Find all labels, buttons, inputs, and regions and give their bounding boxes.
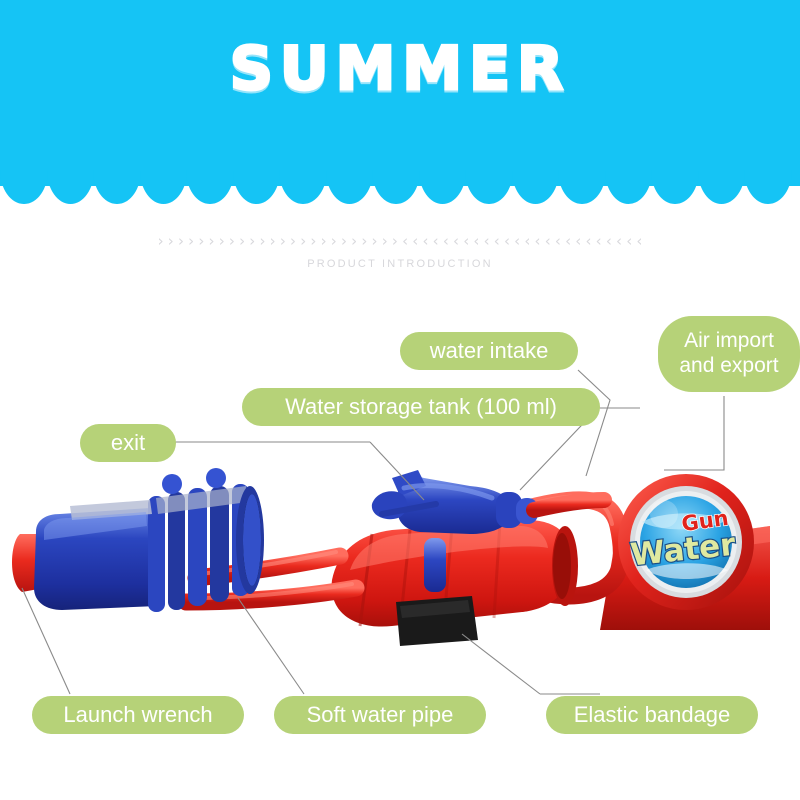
callout-launch-wrench-label: Launch wrench [63,702,212,728]
chevron-left-icon: ‹ [453,234,459,249]
chevron-left-icon: ‹ [422,234,428,249]
chevron-left-icon: ‹ [402,234,408,249]
chevron-left-icon: ‹ [626,234,632,249]
chevron-right-icon: › [168,234,174,249]
callout-water-intake-label: water intake [430,338,549,364]
wave-scallop [605,170,653,204]
summer-banner: SUMMER [0,0,800,186]
chevron-right-icon: › [382,234,388,249]
chevron-right-icon: › [361,234,367,249]
chevron-left-icon: ‹ [524,234,530,249]
infographic-canvas: SUMMER ››››››››››››››››››››››››‹‹‹‹‹‹‹‹‹… [0,0,800,800]
chevron-left-icon: ‹ [433,234,439,249]
chevron-left-icon: ‹ [575,234,581,249]
callout-air-import-line2: and export [679,354,778,379]
wave-scallop [465,170,513,204]
chevron-right-icon: › [351,234,357,249]
wave-scallop [93,170,141,204]
chevron-left-icon: ‹ [514,234,520,249]
callout-exit-label: exit [111,430,145,456]
chevron-right-icon: › [290,234,296,249]
chevron-right-icon: › [198,234,204,249]
wave-scallop [698,170,746,204]
chevron-right-icon: › [259,234,265,249]
wave-scallop [279,170,327,204]
callout-water-intake[interactable]: water intake [400,332,578,370]
product-photo: Gun Water [0,430,800,700]
wave-scallop [372,170,420,204]
chevron-left-icon: ‹ [565,234,571,249]
chevron-left-icon: ‹ [606,234,612,249]
chevron-right-icon: › [188,234,194,249]
wave-scallop [419,170,467,204]
chevron-right-icon: › [209,234,215,249]
chevron-left-icon: ‹ [596,234,602,249]
callout-elastic-bandage-label: Elastic bandage [574,702,731,728]
chevron-right-icon: › [158,234,164,249]
chevron-right-icon: › [229,234,235,249]
wave-scallop [186,170,234,204]
section-subtitle: PRODUCT INTRODUCTION [0,258,800,270]
callout-launch-wrench[interactable]: Launch wrench [32,696,244,734]
chevron-left-icon: ‹ [555,234,561,249]
chevron-right-icon: › [239,234,245,249]
banner-title: SUMMER [0,34,800,104]
chevron-right-icon: › [331,234,337,249]
wave-divider [0,170,800,204]
chevron-left-icon: ‹ [484,234,490,249]
chevron-left-icon: ‹ [494,234,500,249]
elastic-bandage-strap [396,596,478,646]
wave-scallop [47,170,95,204]
callout-elastic-bandage[interactable]: Elastic bandage [546,696,758,734]
callout-air-import-line1: Air import [684,329,774,354]
wave-scallop [744,170,792,204]
callout-soft-water-pipe[interactable]: Soft water pipe [274,696,486,734]
chevron-right-icon: › [341,234,347,249]
chevron-left-icon: ‹ [535,234,541,249]
wave-scallop [233,170,281,204]
chevron-left-icon: ‹ [463,234,469,249]
wave-scallop [558,170,606,204]
wave-scallop [512,170,560,204]
chevron-right-icon: › [392,234,398,249]
callout-soft-water-pipe-label: Soft water pipe [307,702,454,728]
chevron-right-icon: › [270,234,276,249]
chevron-right-icon: › [280,234,286,249]
chevron-right-icon: › [310,234,316,249]
chevron-left-icon: ‹ [504,234,510,249]
callout-air-import[interactable]: Air import and export [658,316,800,392]
water-gun-badge: Gun Water [618,474,754,610]
chevron-left-icon: ‹ [616,234,622,249]
launch-wrench [12,468,264,612]
chevron-left-icon: ‹ [636,234,642,249]
callout-water-storage-tank[interactable]: Water storage tank (100 ml) [242,388,600,426]
chevron-left-icon: ‹ [473,234,479,249]
callout-exit[interactable]: exit [80,424,176,462]
chevron-right-icon: › [178,234,184,249]
chevron-right-icon: › [300,234,306,249]
chevron-divider: ››››››››››››››››››››››››‹‹‹‹‹‹‹‹‹‹‹‹‹‹‹‹… [0,231,800,251]
chevron-left-icon: ‹ [585,234,591,249]
chevron-right-icon: › [372,234,378,249]
wave-scallop [0,170,48,204]
chevron-left-icon: ‹ [443,234,449,249]
chevron-right-icon: › [219,234,225,249]
wave-scallop [651,170,699,204]
chevron-right-icon: › [249,234,255,249]
chevron-left-icon: ‹ [545,234,551,249]
chevron-left-icon: ‹ [412,234,418,249]
wave-scallop [326,170,374,204]
wave-scallop [140,170,188,204]
callout-water-storage-tank-label: Water storage tank (100 ml) [285,394,557,420]
chevron-right-icon: › [321,234,327,249]
